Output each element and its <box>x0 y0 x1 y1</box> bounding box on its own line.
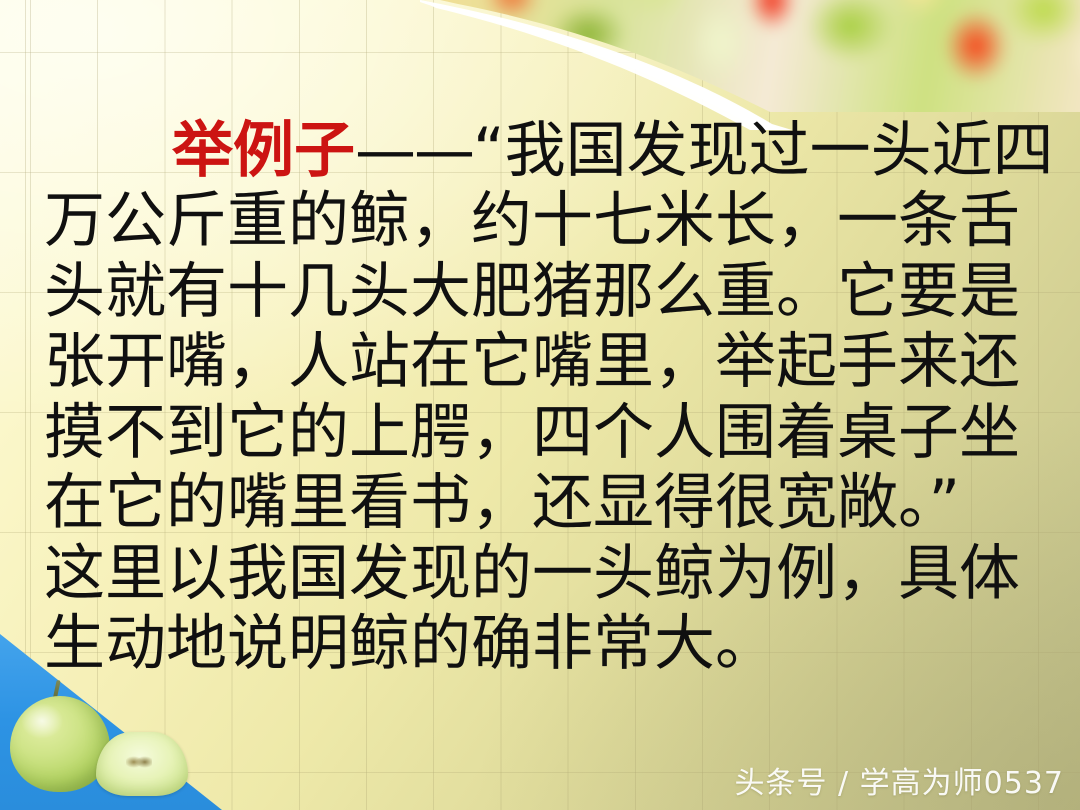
em-dash: —— <box>355 115 473 186</box>
text-line-1: 举例子——“我国发现过一头近四 <box>44 116 1016 186</box>
text-line-4: 张开嘴，人站在它嘴里，举起手来还 <box>44 327 1016 397</box>
text-line-8: 生动地说明鲸的确非常大。 <box>44 609 1016 679</box>
apple-core-seeds <box>126 756 152 768</box>
text-line-3: 头就有十几头大肥猪那么重。它要是 <box>44 257 1016 327</box>
text-line-2: 万公斤重的鲸，约十七米长，一条舌 <box>44 186 1016 256</box>
text-line-5: 摸不到它的上腭，四个人围着桌子坐 <box>44 398 1016 468</box>
slide-body-text: 举例子——“我国发现过一头近四 万公斤重的鲸，约十七米长，一条舌 头就有十几头大… <box>44 116 1016 680</box>
slide-canvas: 举例子——“我国发现过一头近四 万公斤重的鲸，约十七米长，一条舌 头就有十几头大… <box>0 0 1080 810</box>
text-line-7: 这里以我国发现的一头鲸为例，具体 <box>44 539 1016 609</box>
watermark-credit: 头条号 / 学高为师0537 <box>734 758 1064 802</box>
whole-green-apple <box>10 696 110 792</box>
text-line-1-rest: “我国发现过一头近四 <box>473 115 1054 186</box>
keyword-juliezi: 举例子 <box>172 115 355 186</box>
text-line-6: 在它的嘴里看书，还显得很宽敞。” <box>44 468 1016 538</box>
